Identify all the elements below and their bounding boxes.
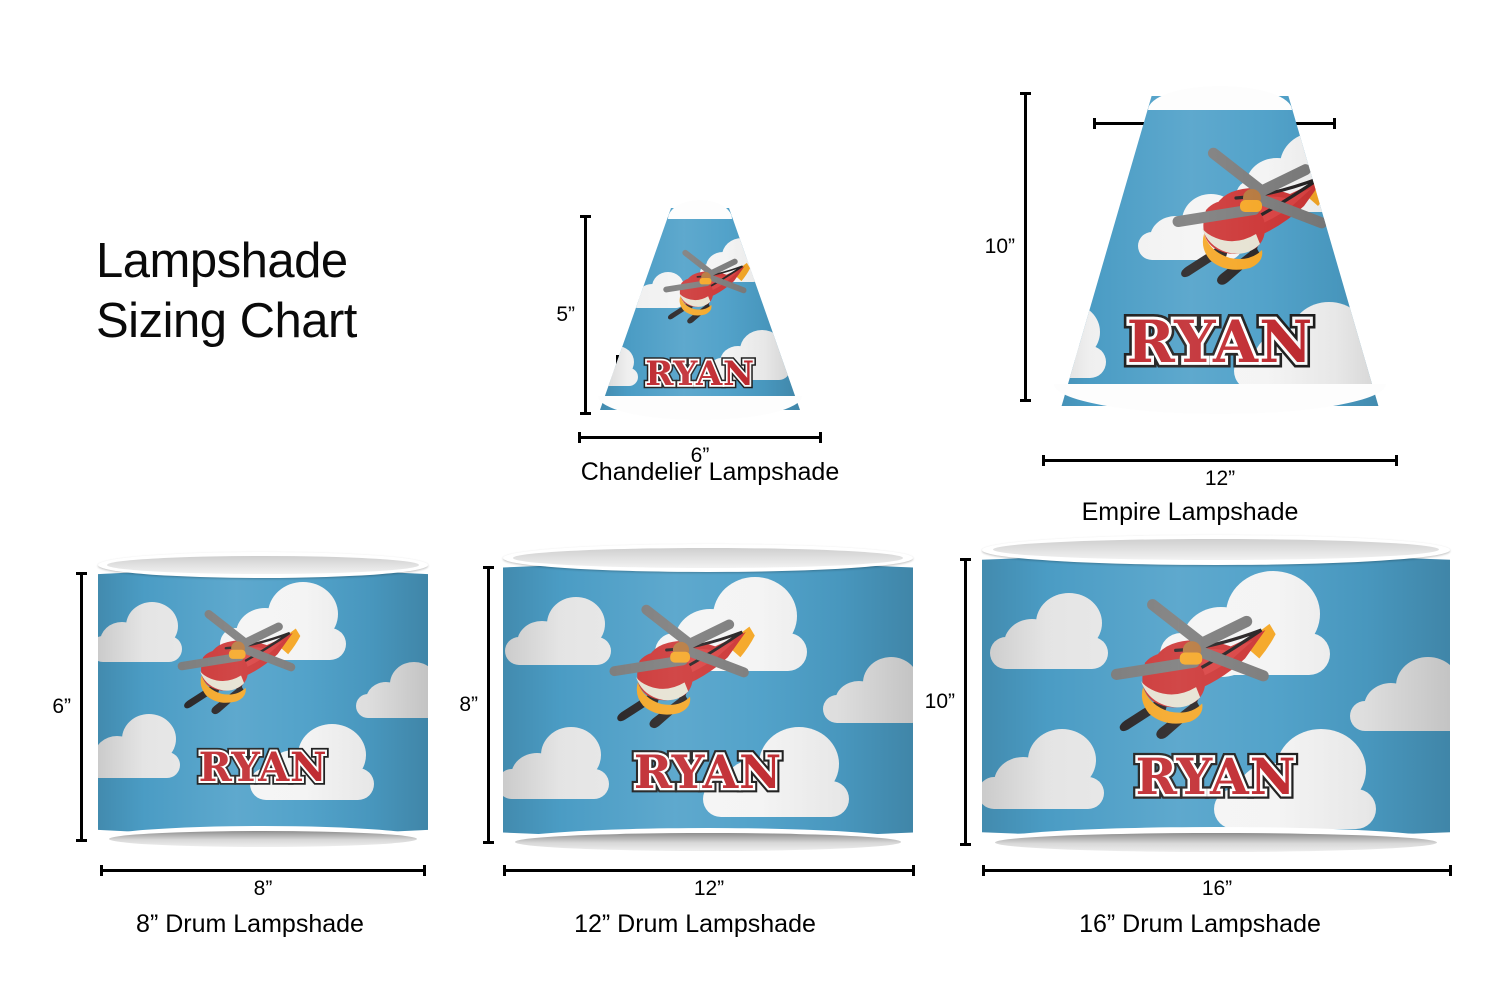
empire-shade-graphic: RYAN RYAN <box>1040 86 1400 416</box>
chandelier-shade-graphic: RYAN RYAN <box>600 200 800 420</box>
drum12-caption: 12” Drum Lampshade <box>455 910 935 939</box>
product-chandelier-lampshade: 3” 5” <box>560 170 860 490</box>
drum12-shade-graphic: RYAN RYAN <box>503 544 913 856</box>
drum8-bottom-rim-inner <box>109 831 417 847</box>
drum12-height-label: 8” <box>459 693 478 717</box>
drum8-caption: 8” Drum Lampshade <box>40 910 460 939</box>
product-drum-lampshade-16: 10” <box>930 530 1470 930</box>
product-drum-lampshade-12: 8” <box>455 530 935 930</box>
drum12-top-rim-inner <box>513 548 903 568</box>
drum8-width-dimension: 8” <box>100 865 426 875</box>
drum16-top-rim-inner <box>993 539 1439 560</box>
empire-bottom-trim <box>1054 384 1386 414</box>
cloud-icon <box>356 662 428 720</box>
helicopter-icon <box>1090 599 1294 763</box>
cloud-icon <box>1350 657 1450 733</box>
page-title: Lampshade Sizing Chart <box>96 232 516 352</box>
drum12-shade-surface: RYAN RYAN <box>503 559 913 841</box>
name-fill: RYAN <box>645 354 755 394</box>
chandelier-height-dimension: 5” <box>580 215 591 415</box>
name-fill: RYAN <box>1135 747 1296 806</box>
drum12-width-label: 12” <box>503 877 915 901</box>
empire-bottom-width-dimension: 12” <box>1042 455 1398 465</box>
drum12-width-dimension: 12” <box>503 865 915 875</box>
sizing-chart-canvas: Lampshade Sizing Chart 3” 5” <box>0 0 1500 1000</box>
cloud-icon <box>823 657 913 725</box>
helicopter-icon <box>591 605 771 749</box>
name-fill: RYAN <box>199 744 328 791</box>
drum16-height-label: 10” <box>925 690 955 714</box>
drum16-width-label: 16” <box>982 877 1452 901</box>
chandelier-bottom-trim <box>598 396 802 420</box>
drum16-height-dimension: 10” <box>960 558 971 846</box>
chandelier-height-label: 5” <box>556 303 575 327</box>
empire-top-trim <box>1148 86 1292 110</box>
chandelier-shade-surface: RYAN RYAN <box>600 208 800 410</box>
product-empire-lampshade: 8” 10” <box>960 50 1420 490</box>
title-line-2: Sizing Chart <box>96 292 516 352</box>
empire-shade-surface: RYAN RYAN <box>1040 96 1400 406</box>
drum8-top-rim-inner <box>107 556 419 574</box>
empire-height-dimension: 10” <box>1020 92 1031 402</box>
drum8-width-label: 8” <box>100 877 426 901</box>
chandelier-bottom-width-dimension: 6” <box>578 432 822 442</box>
chandelier-caption: Chandelier Lampshade <box>560 458 860 487</box>
name-fill: RYAN <box>1127 308 1314 376</box>
empire-caption: Empire Lampshade <box>960 498 1420 527</box>
title-line-1: Lampshade <box>96 234 348 288</box>
personalized-name-text: RYAN RYAN <box>1040 308 1400 376</box>
helicopter-icon <box>162 610 314 732</box>
personalized-name-text: RYAN RYAN <box>503 745 913 799</box>
personalized-name-text: RYAN RYAN <box>982 747 1450 806</box>
drum12-bottom-rim-inner <box>515 833 901 851</box>
drum8-height-label: 6” <box>52 695 71 719</box>
empire-bottom-width-label: 12” <box>1042 467 1398 491</box>
product-drum-lampshade-8: 6” <box>40 530 460 930</box>
personalized-name-text: RYAN RYAN <box>98 744 428 791</box>
drum16-caption: 16” Drum Lampshade <box>930 910 1470 939</box>
chandelier-top-trim <box>668 200 732 219</box>
drum16-width-dimension: 16” <box>982 865 1452 875</box>
drum8-shade-graphic: RYAN RYAN <box>98 552 428 852</box>
helicopter-icon <box>652 250 760 336</box>
empire-height-label: 10” <box>985 235 1015 259</box>
drum16-shade-graphic: RYAN RYAN <box>982 535 1450 857</box>
name-fill: RYAN <box>634 745 782 799</box>
cloud-icon <box>1352 224 1400 290</box>
helicopter-icon <box>1152 148 1352 308</box>
personalized-name-text: RYAN RYAN <box>600 354 800 394</box>
drum16-bottom-rim-inner <box>995 833 1437 852</box>
drum8-height-dimension: 6” <box>76 572 87 842</box>
drum8-shade-surface: RYAN RYAN <box>98 566 428 838</box>
drum12-height-dimension: 8” <box>483 566 494 844</box>
drum16-shade-surface: RYAN RYAN <box>982 551 1450 841</box>
